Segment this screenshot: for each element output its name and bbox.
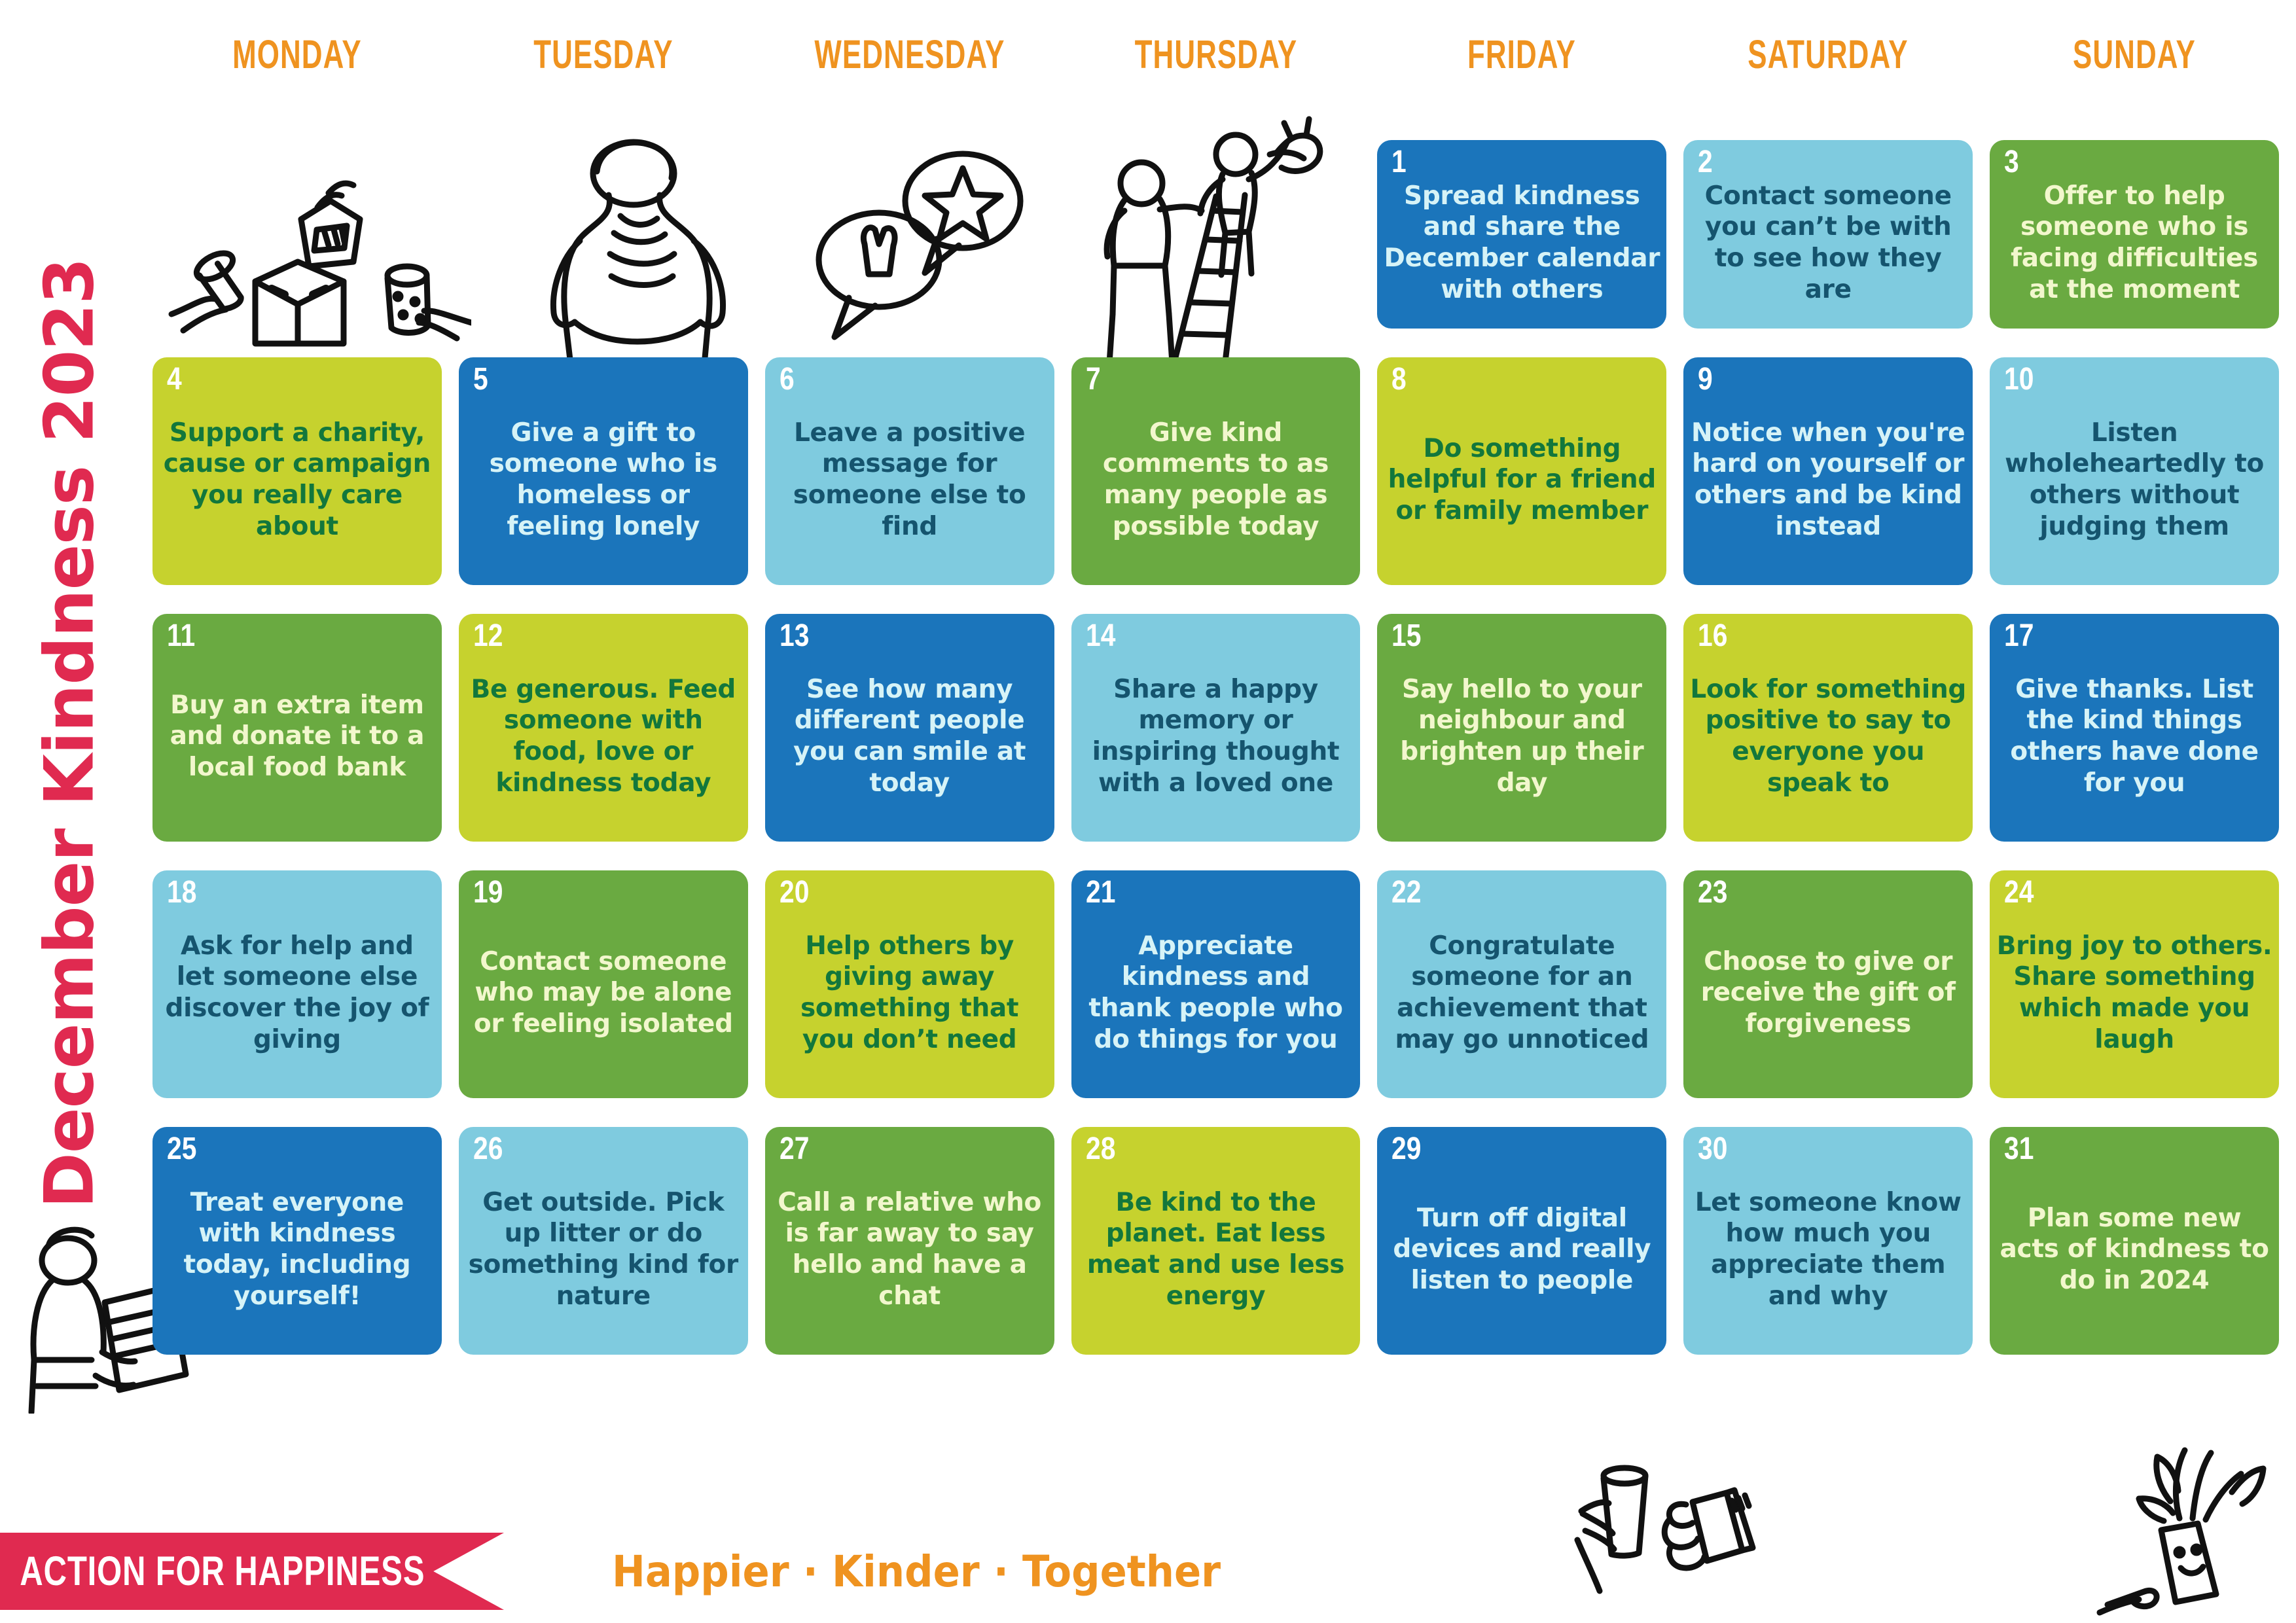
day-action-text: Contact someone you can’t be with to see…: [1690, 140, 1966, 329]
day-action-label: Look for something positive to say to ev…: [1690, 674, 1966, 798]
tagline: Happier · Kinder · Together: [612, 1537, 1221, 1607]
day-action-text: Look for something positive to say to ev…: [1690, 614, 1966, 842]
page-title: December Kindness 2023: [37, 258, 104, 1208]
day-action-text: Notice when you're hard on yourself or o…: [1690, 357, 1966, 585]
day-action-text: See how many different people you can sm…: [772, 614, 1048, 842]
day-action-text: Support a charity, cause or campaign you…: [159, 357, 435, 585]
calendar-day-card-27[interactable]: 27Call a relative who is far away to say…: [765, 1127, 1054, 1355]
organisation-name: ACTION FOR HAPPINESS: [20, 1548, 425, 1595]
day-action-label: Turn off digital devices and really list…: [1384, 1203, 1660, 1296]
calendar-day-card-17[interactable]: 17Give thanks. List the kind things othe…: [1990, 614, 2279, 842]
day-action-label: Listen wholeheartedly to others without …: [1996, 418, 2272, 542]
day-action-text: Do something helpful for a friend or fam…: [1384, 357, 1660, 585]
calendar-week-row: 18Ask for help and let someone else disc…: [152, 856, 2279, 1113]
day-action-text: Choose to give or receive the gift of fo…: [1690, 870, 1966, 1098]
calendar-cell: 31Plan some new acts of kindness to do i…: [1990, 1113, 2279, 1369]
day-action-label: Call a relative who is far away to say h…: [772, 1187, 1048, 1311]
calendar-day-card-24[interactable]: 24Bring joy to others. Share something w…: [1990, 870, 2279, 1098]
day-header-saturday: SATURDAY: [1724, 26, 1932, 82]
day-action-label: Choose to give or receive the gift of fo…: [1690, 946, 1966, 1040]
day-header-friday: FRIDAY: [1418, 26, 1626, 82]
calendar-day-card-25[interactable]: 25Treat everyone with kindness today, in…: [152, 1127, 442, 1355]
day-action-label: Let someone know how much you appreciate…: [1690, 1187, 1966, 1311]
day-action-label: Share a happy memory or inspiring though…: [1078, 674, 1354, 798]
calendar-grid: MONDAY TUESDAY WEDNESDAY THURSDAY FRIDAY…: [141, 26, 2291, 1466]
calendar-day-card-2[interactable]: 2Contact someone you can’t be with to se…: [1683, 140, 1973, 329]
calendar-day-card-18[interactable]: 18Ask for help and let someone else disc…: [152, 870, 442, 1098]
calendar-day-card-19[interactable]: 19Contact someone who may be alone or fe…: [459, 870, 748, 1098]
calendar-day-card-11[interactable]: 11Buy an extra item and donate it to a l…: [152, 614, 442, 842]
calendar-cell: 19Contact someone who may be alone or fe…: [459, 856, 748, 1113]
day-action-text: Offer to help someone who is facing diff…: [1996, 140, 2272, 329]
day-action-text: Leave a positive message for someone els…: [772, 357, 1048, 585]
day-action-text: Give a gift to someone who is homeless o…: [465, 357, 742, 585]
day-action-text: Listen wholeheartedly to others without …: [1996, 357, 2272, 585]
calendar-cell: 2Contact someone you can’t be with to se…: [1683, 82, 1973, 343]
day-header-sunday: SUNDAY: [2030, 26, 2238, 82]
day-header-monday: MONDAY: [193, 26, 401, 82]
calendar-day-card-empty: [1071, 140, 1361, 329]
day-action-label: Give thanks. List the kind things others…: [1996, 674, 2272, 798]
day-action-label: Give a gift to someone who is homeless o…: [465, 418, 742, 542]
calendar-cell: [765, 82, 1054, 343]
day-action-label: Do something helpful for a friend or fam…: [1384, 433, 1660, 527]
calendar-day-card-15[interactable]: 15Say hello to your neighbour and bright…: [1377, 614, 1666, 842]
day-action-text: Say hello to your neighbour and brighten…: [1384, 614, 1660, 842]
calendar-day-card-3[interactable]: 3Offer to help someone who is facing dif…: [1990, 140, 2279, 329]
day-action-text: Buy an extra item and donate it to a loc…: [159, 614, 435, 842]
calendar-week-row: 11Buy an extra item and donate it to a l…: [152, 599, 2279, 856]
day-action-text: Appreciate kindness and thank people who…: [1078, 870, 1354, 1098]
day-action-label: See how many different people you can sm…: [772, 674, 1048, 798]
day-action-label: Leave a positive message for someone els…: [772, 418, 1048, 542]
calendar-cell: 5Give a gift to someone who is homeless …: [459, 343, 748, 599]
calendar-day-card-16[interactable]: 16Look for something positive to say to …: [1683, 614, 1973, 842]
calendar-day-card-empty: [152, 140, 442, 329]
calendar-cell: 27Call a relative who is far away to say…: [765, 1113, 1054, 1369]
day-action-text: Bring joy to others. Share something whi…: [1996, 870, 2272, 1098]
day-action-label: Plan some new acts of kindness to do in …: [1996, 1203, 2272, 1296]
calendar-cell: 29Turn off digital devices and really li…: [1377, 1113, 1666, 1369]
calendar-week-row: 1Spread kindness and share the December …: [152, 82, 2279, 343]
day-action-text: Treat everyone with kindness today, incl…: [159, 1127, 435, 1355]
calendar-day-card-6[interactable]: 6Leave a positive message for someone el…: [765, 357, 1054, 585]
day-action-label: Appreciate kindness and thank people who…: [1078, 931, 1354, 1055]
calendar-cell: [152, 82, 442, 343]
calendar-day-card-empty: [765, 140, 1054, 329]
calendar-cell: 15Say hello to your neighbour and bright…: [1377, 599, 1666, 856]
calendar-day-card-14[interactable]: 14Share a happy memory or inspiring thou…: [1071, 614, 1361, 842]
calendar-cell: 21Appreciate kindness and thank people w…: [1071, 856, 1361, 1113]
calendar-cell: 28Be kind to the planet. Eat less meat a…: [1071, 1113, 1361, 1369]
calendar-cell: 7Give kind comments to as many people as…: [1071, 343, 1361, 599]
calendar-day-card-empty: [459, 140, 748, 329]
calendar-day-card-22[interactable]: 22Congratulate someone for an achievemen…: [1377, 870, 1666, 1098]
calendar-week-row: 25Treat everyone with kindness today, in…: [152, 1113, 2279, 1369]
calendar-cell: 9Notice when you're hard on yourself or …: [1683, 343, 1973, 599]
day-action-label: Ask for help and let someone else discov…: [159, 931, 435, 1055]
day-action-text: Be kind to the planet. Eat less meat and…: [1078, 1127, 1354, 1355]
day-action-text: Call a relative who is far away to say h…: [772, 1127, 1048, 1355]
calendar-week-row: 4Support a charity, cause or campaign yo…: [152, 343, 2279, 599]
calendar-day-card-30[interactable]: 30Let someone know how much you apprecia…: [1683, 1127, 1973, 1355]
calendar-cell: 25Treat everyone with kindness today, in…: [152, 1113, 442, 1369]
calendar-day-card-1[interactable]: 1Spread kindness and share the December …: [1377, 140, 1666, 329]
day-action-label: Say hello to your neighbour and brighten…: [1384, 674, 1660, 798]
calendar-title-rail: December Kindness 2023: [0, 0, 141, 1466]
day-action-label: Buy an extra item and donate it to a loc…: [159, 690, 435, 783]
day-header-wednesday: WEDNESDAY: [806, 26, 1014, 82]
day-action-label: Support a charity, cause or campaign you…: [159, 418, 435, 542]
calendar-day-card-12[interactable]: 12Be generous. Feed someone with food, l…: [459, 614, 748, 842]
calendar-cell: 12Be generous. Feed someone with food, l…: [459, 599, 748, 856]
day-action-label: Be generous. Feed someone with food, lov…: [465, 674, 742, 798]
day-action-label: Get outside. Pick up litter or do someth…: [465, 1187, 742, 1311]
calendar-cell: 8Do something helpful for a friend or fa…: [1377, 343, 1666, 599]
calendar-day-card-4[interactable]: 4Support a charity, cause or campaign yo…: [152, 357, 442, 585]
calendar-day-card-10[interactable]: 10Listen wholeheartedly to others withou…: [1990, 357, 2279, 585]
calendar-cell: 13See how many different people you can …: [765, 599, 1054, 856]
day-action-text: Congratulate someone for an achievement …: [1384, 870, 1660, 1098]
calendar-cell: 26Get outside. Pick up litter or do some…: [459, 1113, 748, 1369]
calendar-cell: 3Offer to help someone who is facing dif…: [1990, 82, 2279, 343]
day-header-tuesday: TUESDAY: [499, 26, 708, 82]
day-action-text: Turn off digital devices and really list…: [1384, 1127, 1660, 1355]
day-action-label: Be kind to the planet. Eat less meat and…: [1078, 1187, 1354, 1311]
day-action-text: Contact someone who may be alone or feel…: [465, 870, 742, 1098]
calendar-cell: 17Give thanks. List the kind things othe…: [1990, 599, 2279, 856]
calendar-cell: 10Listen wholeheartedly to others withou…: [1990, 343, 2279, 599]
calendar-day-card-20[interactable]: 20Help others by giving away something t…: [765, 870, 1054, 1098]
day-action-text: Let someone know how much you appreciate…: [1690, 1127, 1966, 1355]
calendar-day-card-5[interactable]: 5Give a gift to someone who is homeless …: [459, 357, 748, 585]
day-action-label: Contact someone you can’t be with to see…: [1690, 181, 1966, 305]
day-action-text: Plan some new acts of kindness to do in …: [1996, 1127, 2272, 1355]
calendar-cell: 20Help others by giving away something t…: [765, 856, 1054, 1113]
day-action-label: Congratulate someone for an achievement …: [1384, 931, 1660, 1055]
day-action-text: Ask for help and let someone else discov…: [159, 870, 435, 1098]
calendar-cell: [1071, 82, 1361, 343]
calendar-day-card-29[interactable]: 29Turn off digital devices and really li…: [1377, 1127, 1666, 1355]
day-action-text: Get outside. Pick up litter or do someth…: [465, 1127, 742, 1355]
calendar-day-card-28[interactable]: 28Be kind to the planet. Eat less meat a…: [1071, 1127, 1361, 1355]
calendar-cell: 30Let someone know how much you apprecia…: [1683, 1113, 1973, 1369]
day-action-text: Help others by giving away something tha…: [772, 870, 1048, 1098]
day-header-thursday: THURSDAY: [1111, 26, 1319, 82]
day-action-label: Treat everyone with kindness today, incl…: [159, 1187, 435, 1311]
calendar-day-card-9[interactable]: 9Notice when you're hard on yourself or …: [1683, 357, 1973, 585]
calendar-cell: 18Ask for help and let someone else disc…: [152, 856, 442, 1113]
calendar-cell: 6Leave a positive message for someone el…: [765, 343, 1054, 599]
calendar-cell: 23Choose to give or receive the gift of …: [1683, 856, 1973, 1113]
footer: ACTION FOR HAPPINESS Happier · Kinder · …: [0, 1518, 2296, 1623]
calendar-cell: 11Buy an extra item and donate it to a l…: [152, 599, 442, 856]
calendar-day-card-7[interactable]: 7Give kind comments to as many people as…: [1071, 357, 1361, 585]
calendar-weeks: 1Spread kindness and share the December …: [141, 82, 2291, 1466]
day-action-label: Give kind comments to as many people as …: [1078, 418, 1354, 542]
day-action-text: Give kind comments to as many people as …: [1078, 357, 1354, 585]
calendar-cell: [459, 82, 748, 343]
day-action-text: Be generous. Feed someone with food, lov…: [465, 614, 742, 842]
day-action-label: Spread kindness and share the December c…: [1384, 181, 1660, 305]
calendar-day-card-8[interactable]: 8Do something helpful for a friend or fa…: [1377, 357, 1666, 585]
calendar-day-card-31[interactable]: 31Plan some new acts of kindness to do i…: [1990, 1127, 2279, 1355]
day-action-label: Notice when you're hard on yourself or o…: [1690, 418, 1966, 542]
calendar-day-card-26[interactable]: 26Get outside. Pick up litter or do some…: [459, 1127, 748, 1355]
calendar-day-card-13[interactable]: 13See how many different people you can …: [765, 614, 1054, 842]
calendar-cell: 24Bring joy to others. Share something w…: [1990, 856, 2279, 1113]
day-action-text: Spread kindness and share the December c…: [1384, 140, 1660, 329]
day-action-label: Offer to help someone who is facing diff…: [1996, 181, 2272, 305]
calendar-cell: 16Look for something positive to say to …: [1683, 599, 1973, 856]
calendar-cell: 22Congratulate someone for an achievemen…: [1377, 856, 1666, 1113]
calendar-cell: 4Support a charity, cause or campaign yo…: [152, 343, 442, 599]
action-for-happiness-banner: ACTION FOR HAPPINESS: [0, 1533, 504, 1610]
day-header-row: MONDAY TUESDAY WEDNESDAY THURSDAY FRIDAY…: [141, 26, 2291, 82]
calendar-cell: 14Share a happy memory or inspiring thou…: [1071, 599, 1361, 856]
calendar-day-card-21[interactable]: 21Appreciate kindness and thank people w…: [1071, 870, 1361, 1098]
calendar-cell: 1Spread kindness and share the December …: [1377, 82, 1666, 343]
day-action-label: Bring joy to others. Share something whi…: [1996, 931, 2272, 1055]
day-action-text: Give thanks. List the kind things others…: [1996, 614, 2272, 842]
day-action-label: Help others by giving away something tha…: [772, 931, 1048, 1055]
calendar-day-card-23[interactable]: 23Choose to give or receive the gift of …: [1683, 870, 1973, 1098]
day-action-text: Share a happy memory or inspiring though…: [1078, 614, 1354, 842]
day-action-label: Contact someone who may be alone or feel…: [465, 946, 742, 1040]
